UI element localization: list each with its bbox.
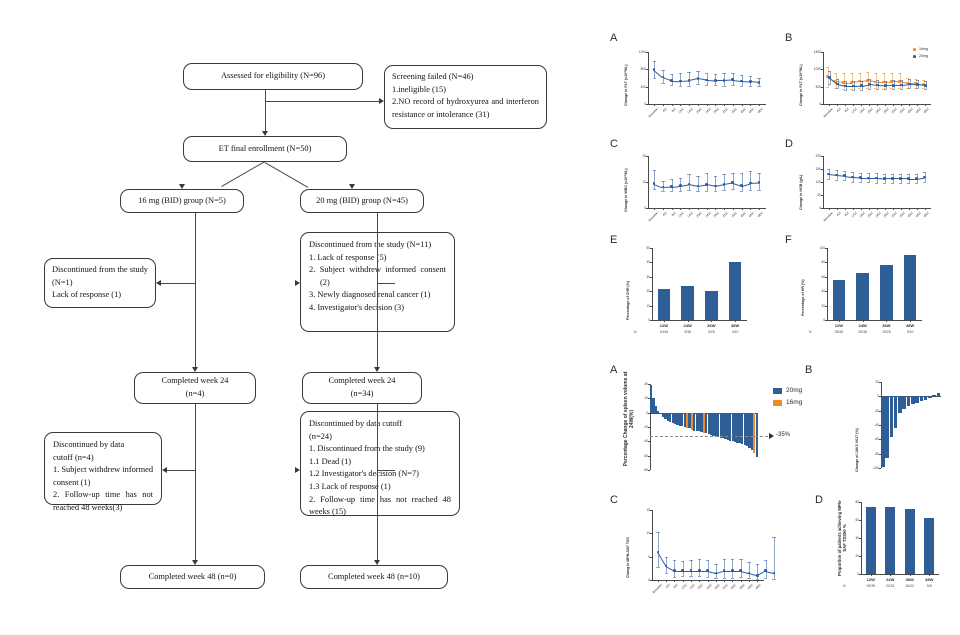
error-bar-cap: [731, 559, 734, 560]
data-point: [884, 84, 887, 87]
panel-letter: C: [610, 138, 618, 150]
data-point: [681, 569, 684, 572]
screening-failed-line3: 2.NO record of hydroxyurea and interfero…: [392, 96, 539, 121]
data-point: [705, 79, 708, 82]
connector-16mg-to-cutoff: [167, 470, 195, 471]
n-value-label: 10/46: [652, 330, 676, 334]
error-bar-cap: [665, 573, 668, 574]
y-tick-label: 100: [809, 246, 825, 250]
error-bar-cap: [875, 173, 878, 174]
error-bar-cap: [749, 86, 752, 87]
cutoff16-title2: cutoff (n=4): [53, 452, 153, 465]
connector-assessed-to-enrollment: [265, 90, 266, 131]
y-tick-label: 1000: [805, 67, 821, 71]
error-bar-cap: [722, 190, 725, 191]
error-bar-cap: [653, 189, 656, 190]
y-tick-label: 1500: [805, 50, 821, 54]
y-axis-title: Change in PLT (x10^9/L): [624, 64, 628, 106]
error-bar-cap: [679, 86, 682, 87]
data-point: [828, 76, 831, 79]
bar: [856, 273, 868, 320]
chart-panel-bottom-c: CChang in MPN-SAF TSS051015Baseline4W8W1…: [610, 492, 800, 607]
n-value-label: 23/31: [881, 584, 901, 588]
y-tick-mark: [821, 195, 823, 196]
x-axis: [652, 320, 747, 321]
jak2-bar: [898, 396, 902, 412]
error-bar-cap: [890, 73, 893, 74]
y-tick-label: 0: [843, 572, 859, 576]
y-axis: [648, 156, 649, 208]
x-tick-mark: [732, 580, 733, 582]
y-tick-label: 800: [630, 67, 646, 71]
x-tick-mark: [877, 208, 878, 210]
x-tick-mark: [909, 104, 910, 106]
y-tick-mark: [646, 87, 648, 88]
y-tick-label: 0: [805, 102, 821, 106]
arrowhead-screening-failed: [379, 98, 384, 104]
data-point: [764, 569, 767, 572]
data-point: [915, 177, 918, 180]
error-bar-cap: [749, 76, 752, 77]
y-tick-label: -20: [632, 425, 648, 429]
error-bar-cap: [907, 174, 910, 175]
error-bar-cap: [852, 81, 855, 82]
jak2-bar: [885, 396, 889, 458]
error-bar-cap: [705, 191, 708, 192]
chart-panel-bottom-d: DProportion of patients achieving MPN-SA…: [815, 492, 960, 607]
y-tick-mark: [648, 427, 650, 428]
x-tick-mark: [691, 580, 692, 582]
panel-letter: E: [610, 234, 617, 246]
y-axis-title: Change in WBC (x10^9/L): [624, 168, 628, 212]
error-bar-cap: [665, 557, 668, 558]
error-bar-cap: [731, 73, 734, 74]
y-tick-mark: [821, 182, 823, 183]
cutoff16-item-1: 1. Subject withdrew informed consent (1): [53, 464, 153, 489]
y-tick-mark: [650, 306, 652, 307]
error-bar-cap: [653, 78, 656, 79]
error-bar-cap: [661, 181, 664, 182]
error-bar-cap: [874, 73, 877, 74]
legend-label: 20mg: [786, 387, 802, 394]
arrowhead-week24-16mg: [192, 367, 198, 372]
x-tick-mark: [893, 104, 894, 106]
error-bar-cap: [827, 169, 830, 170]
y-tick-mark: [821, 87, 823, 88]
error-bar: [757, 564, 758, 579]
panel-letter: D: [815, 494, 823, 506]
error-bar-cap: [868, 79, 871, 80]
y-tick-label: 20: [632, 396, 648, 400]
x-tick-mark: [871, 574, 872, 576]
x-tick-mark: [861, 208, 862, 210]
error-bar-cap: [747, 578, 750, 579]
x-tick-mark: [715, 208, 716, 210]
error-bar-cap: [679, 178, 682, 179]
y-tick-mark: [825, 248, 827, 249]
x-axis: [861, 574, 939, 575]
y-tick-label: 40: [632, 382, 648, 386]
y-tick-mark: [879, 468, 881, 469]
error-bar-cap: [882, 73, 885, 74]
data-point: [843, 174, 846, 177]
data-point: [907, 177, 910, 180]
error-bar-cap: [757, 78, 760, 79]
cutoff20-item-1: 1. Discontinued from the study (9): [309, 443, 451, 456]
bar: [658, 289, 670, 320]
y-tick-label: 50: [805, 193, 821, 197]
error-bar-cap: [899, 174, 902, 175]
y-tick-label: 150: [805, 167, 821, 171]
data-point: [852, 85, 855, 88]
week48-20mg-label: Completed week 48 (n=10): [328, 571, 420, 584]
error-bar: [699, 559, 700, 576]
y-tick-mark: [859, 538, 861, 539]
error-bar-cap: [731, 85, 734, 86]
y-tick-label: 1200: [630, 50, 646, 54]
screening-failed-line2: 1.ineligible (15): [392, 84, 539, 97]
x-tick-mark: [715, 104, 716, 106]
x-tick-mark: [839, 320, 840, 322]
x-tick-mark: [829, 208, 830, 210]
x-tick-mark: [910, 320, 911, 322]
x-tick-mark: [869, 208, 870, 210]
x-tick-mark: [869, 104, 870, 106]
error-bar-cap: [656, 532, 659, 533]
error-bar-cap: [828, 84, 831, 85]
y-axis: [648, 52, 649, 104]
error-bar-cap: [687, 72, 690, 73]
cutoff20-item-5: 2. Follow-up time has not reached 48 wee…: [309, 494, 451, 519]
x-tick-mark: [698, 104, 699, 106]
error-bar-cap: [924, 81, 927, 82]
legend-label: 20mg: [919, 54, 928, 58]
x-tick-mark: [910, 574, 911, 576]
error-bar-cap: [656, 567, 659, 568]
data-point: [673, 569, 676, 572]
y-tick-label: 0: [630, 102, 646, 106]
y-tick-label: 0: [863, 394, 879, 398]
x-tick-mark: [689, 208, 690, 210]
data-point: [749, 182, 752, 185]
jak2-bar: [924, 396, 928, 400]
y-tick-mark: [646, 208, 648, 209]
error-bar-cap: [698, 559, 701, 560]
x-tick-label: 48W: [920, 577, 940, 582]
error-bar-cap: [883, 174, 886, 175]
error-bar: [691, 560, 692, 576]
y-tick-mark: [825, 277, 827, 278]
error-bar-cap: [687, 174, 690, 175]
bar: [705, 291, 717, 320]
x-tick-mark: [716, 580, 717, 582]
chart-panel-top-e: EPercentage of CHR (%)0102030405012W10/4…: [610, 234, 780, 352]
bar: [885, 507, 895, 574]
error-bar-cap: [756, 579, 759, 580]
data-point: [740, 80, 743, 83]
bar: [924, 518, 934, 574]
error-bar-cap: [835, 180, 838, 181]
error-bar-cap: [859, 182, 862, 183]
y-tick-mark: [650, 557, 652, 558]
error-bar-cap: [908, 79, 911, 80]
error-bar-cap: [740, 191, 743, 192]
error-bar-cap: [696, 191, 699, 192]
flow-node-week24-16mg: Completed week 24 (n=4): [134, 372, 256, 404]
error-bar-cap: [706, 577, 709, 578]
data-point: [827, 173, 830, 176]
y-tick-label: 0: [632, 411, 648, 415]
y-tick-mark: [821, 52, 823, 53]
x-tick-mark: [724, 208, 725, 210]
error-bar: [715, 176, 716, 192]
chart-panel-bottom-b: BChange of JAK2 V617 (%)-100-80-60-40-20…: [805, 362, 960, 487]
jak2-bar: [932, 395, 936, 396]
error-bar-cap: [670, 85, 673, 86]
error-bar-cap: [866, 72, 869, 73]
x-tick-mark: [724, 104, 725, 106]
threshold-annotation: -35%: [776, 432, 790, 438]
error-bar-cap: [859, 173, 862, 174]
flow-node-screening-failed: Screening failed (N=46) 1.ineligible (15…: [384, 65, 547, 129]
y-tick-label: -80: [632, 468, 648, 472]
bar: [833, 280, 845, 320]
error-bar-cap: [722, 86, 725, 87]
error-bar-cap: [835, 170, 838, 171]
x-tick-mark: [759, 104, 760, 106]
bar: [866, 507, 876, 574]
x-tick-mark: [890, 574, 891, 576]
jak2-bar: [915, 396, 919, 402]
error-bar: [749, 562, 750, 578]
flow-node-arm-16mg-label: 16 mg (BID) group (N=5): [138, 195, 226, 208]
error-bar-cap: [731, 578, 734, 579]
error-bar-cap: [705, 173, 708, 174]
data-point: [739, 569, 742, 572]
x-tick-label: 48W: [898, 323, 922, 328]
flow-node-discontinued-16mg: Discontinued from the study (N=1) Lack o…: [44, 258, 156, 308]
y-tick-mark: [650, 291, 652, 292]
y-tick-label: 60: [843, 518, 859, 522]
flow-node-cutoff-16mg: Discontinued by data cutoff (n=4) 1. Sub…: [44, 432, 162, 505]
error-bar: [689, 174, 690, 190]
data-point: [875, 177, 878, 180]
error-bar-cap: [772, 537, 775, 538]
error-bar-cap: [661, 70, 664, 71]
y-tick-mark: [646, 69, 648, 70]
x-tick-mark: [654, 104, 655, 106]
error-bar-cap: [689, 576, 692, 577]
error-bar-cap: [756, 564, 759, 565]
data-point: [670, 79, 673, 82]
error-bar-cap: [679, 191, 682, 192]
connector-week24-16mg-to-week48: [195, 404, 196, 560]
error-bar-cap: [722, 174, 725, 175]
y-tick-label: 50: [634, 246, 650, 250]
panel-letter: D: [785, 138, 793, 150]
legend-label: 16mg: [919, 47, 928, 51]
x-tick-label: 12W: [652, 323, 676, 328]
error-bar-cap: [843, 180, 846, 181]
y-tick-mark: [859, 520, 861, 521]
flow-node-week48-20mg: Completed week 48 (n=10): [300, 565, 448, 589]
error-bar-cap: [687, 86, 690, 87]
jak2-bar: [881, 396, 885, 467]
error-bar-cap: [899, 183, 902, 184]
flow-node-assessed-label: Assessed for eligibility (N=96): [221, 70, 325, 83]
y-tick-label: 40: [843, 536, 859, 540]
y-axis-title: Change of JAK2 V617 (%): [855, 428, 859, 472]
y-tick-label: 5: [634, 555, 650, 559]
error-bar-cap: [689, 560, 692, 561]
error-bar-cap: [731, 173, 734, 174]
flow-node-arm-20mg: 20 mg (BID) group (N=45): [300, 189, 424, 213]
x-tick-mark: [893, 208, 894, 210]
error-bar-cap: [852, 90, 855, 91]
y-tick-mark: [646, 104, 648, 105]
y-tick-mark: [825, 291, 827, 292]
data-point: [697, 77, 700, 80]
error-bar-cap: [826, 67, 829, 68]
error-bar-cap: [916, 88, 919, 89]
error-bar-cap: [705, 73, 708, 74]
x-tick-mark: [672, 104, 673, 106]
y-tick-mark: [650, 277, 652, 278]
error-bar-cap: [891, 183, 894, 184]
y-tick-label: 10: [634, 304, 650, 308]
error-bar-cap: [876, 89, 879, 90]
error-bar-cap: [731, 189, 734, 190]
arrowhead-enrollment: [262, 131, 268, 136]
error-bar-cap: [653, 170, 656, 171]
jak2-bar: [911, 396, 915, 404]
y-tick-label: -60: [632, 454, 648, 458]
y-tick-label: 10: [630, 180, 646, 184]
flow-node-enrollment: ET final enrollment (N=50): [183, 136, 347, 162]
consort-flow-diagram: Assessed for eligibility (N=96) Screenin…: [0, 0, 600, 635]
error-bar-cap: [673, 577, 676, 578]
arrowhead-cutoff-16mg: [162, 467, 167, 473]
jak2-bar: [920, 396, 924, 401]
x-tick-mark: [707, 104, 708, 106]
x-tick-mark: [664, 320, 665, 322]
y-tick-label: 80: [809, 260, 825, 264]
error-bar-cap: [764, 560, 767, 561]
error-bar-cap: [739, 577, 742, 578]
chart-panel-top-f: FPercentage of HR (%)02040608010012W25/4…: [785, 234, 960, 352]
error-bar-cap: [827, 179, 830, 180]
y-tick-mark: [646, 156, 648, 157]
y-tick-label: 10: [634, 531, 650, 535]
data-point: [679, 80, 682, 83]
error-bar-cap: [851, 172, 854, 173]
x-tick-label: 12W: [861, 577, 881, 582]
n-value-label: 9/38: [676, 330, 700, 334]
legend-marker: [913, 55, 916, 58]
y-tick-mark: [821, 169, 823, 170]
y-tick-mark: [646, 182, 648, 183]
x-tick-mark: [749, 580, 750, 582]
error-bar-cap: [661, 191, 664, 192]
n-value-label: 25/38: [851, 330, 875, 334]
x-tick-mark: [735, 320, 736, 322]
x-tick-label: 36W: [875, 323, 899, 328]
n-value-label: 19/25: [875, 330, 899, 334]
x-tick-mark: [742, 104, 743, 106]
error-bar-cap: [714, 578, 717, 579]
y-tick-mark: [650, 248, 652, 249]
error-bar-cap: [670, 191, 673, 192]
data-point: [714, 79, 717, 82]
y-tick-label: 100: [805, 180, 821, 184]
error-bar: [742, 173, 743, 191]
y-tick-label: 20: [634, 289, 650, 293]
y-tick-mark: [821, 156, 823, 157]
panel-letter: B: [785, 32, 792, 44]
flow-node-cutoff-20mg: Discontinued by data cutoff (n=24) 1. Di…: [300, 411, 460, 516]
panel-letter: F: [785, 234, 792, 246]
data-point: [723, 183, 726, 186]
error-bar-cap: [836, 79, 839, 80]
x-tick-mark: [901, 208, 902, 210]
data-point: [867, 177, 870, 180]
error-bar-cap: [867, 182, 870, 183]
y-tick-mark: [650, 262, 652, 263]
x-tick-mark: [863, 320, 864, 322]
error-bar-cap: [706, 560, 709, 561]
error-bar-cap: [757, 173, 760, 174]
error-bar-cap: [891, 174, 894, 175]
error-bar-cap: [705, 85, 708, 86]
x-tick-mark: [853, 208, 854, 210]
error-bar-cap: [681, 576, 684, 577]
y-tick-mark: [650, 510, 652, 511]
x-tick-label: 24W: [881, 577, 901, 582]
x-tick-mark: [853, 104, 854, 106]
data-point: [740, 184, 743, 187]
y-axis: [827, 248, 828, 320]
y-axis: [823, 52, 824, 104]
y-tick-mark: [821, 104, 823, 105]
error-bar-cap: [843, 171, 846, 172]
y-tick-label: 0: [634, 578, 650, 582]
arrowhead-arm-16mg: [179, 184, 185, 189]
error-bar-cap: [772, 579, 775, 580]
y-tick-label: 60: [809, 275, 825, 279]
data-point: [836, 83, 839, 86]
error-bar-cap: [749, 171, 752, 172]
error-bar-cap: [836, 88, 839, 89]
disc16-line1: Discontinued from the study (N=1): [52, 264, 148, 289]
n-value-label: 5/8: [920, 584, 940, 588]
y-tick-mark: [650, 533, 652, 534]
error-bar: [707, 173, 708, 190]
x-tick-mark: [666, 580, 667, 582]
data-point: [670, 185, 673, 188]
x-axis: [827, 320, 922, 321]
x-tick-mark: [733, 208, 734, 210]
n-row-prefix: N: [809, 330, 811, 334]
n-value-label: 5/25: [700, 330, 724, 334]
data-point: [731, 569, 734, 572]
x-tick-mark: [699, 580, 700, 582]
error-bar-cap: [844, 81, 847, 82]
error-bar-cap: [826, 87, 829, 88]
error-bar-cap: [723, 559, 726, 560]
error-bar-cap: [740, 75, 743, 76]
error-bar-cap: [867, 173, 870, 174]
y-tick-label: 20: [843, 554, 859, 558]
